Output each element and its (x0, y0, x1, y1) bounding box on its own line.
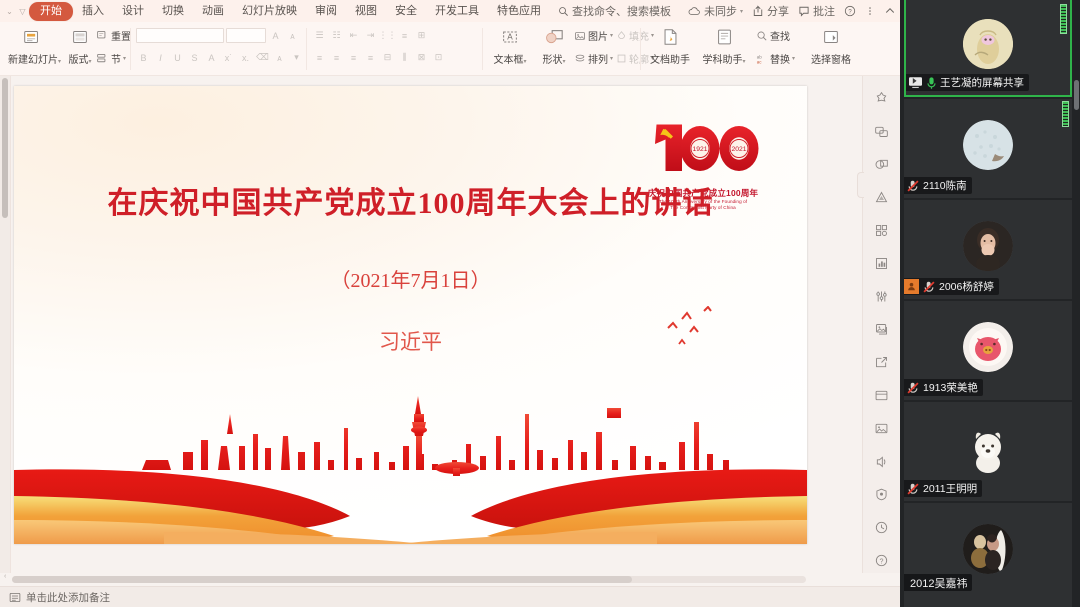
comment-icon (798, 5, 810, 17)
ribbon-separator (482, 28, 483, 70)
svg-text:ab: ab (757, 54, 763, 59)
slide-layout-icon[interactable] (872, 385, 892, 405)
font-color-caret-icon[interactable]: ▾ (289, 50, 304, 65)
arrange-button[interactable]: 排列 ▾ (574, 51, 613, 66)
person-icon (907, 282, 916, 291)
mic-on-green-icon (926, 76, 937, 90)
align-text-icon[interactable]: ⊞ (414, 28, 429, 43)
clear-format-button[interactable]: ⌫ (255, 50, 270, 65)
line-spacing-icon[interactable]: ⋮⋮ (380, 28, 395, 43)
underline-button[interactable]: U (170, 50, 185, 65)
meeting-participants-panel: 王艺凝的屏幕共享 (900, 0, 1080, 607)
text-highlight-button[interactable]: ᴀ (272, 50, 287, 65)
tab-start[interactable]: 开始 (29, 2, 73, 21)
participant-name: 2110陈南 (923, 178, 967, 193)
history-clock-icon[interactable] (872, 517, 892, 537)
ribbon-toolbar: 新建幻灯片▾ 版式▾ (0, 22, 900, 76)
font-selectors: A ᴀ (136, 28, 300, 43)
shapes-button[interactable]: 形状▾ (530, 26, 578, 66)
participant-namebar: 1913荣美艳 (904, 379, 983, 396)
speech-bubbles-icon[interactable] (872, 121, 892, 141)
cloud-sync-label: 未同步 (704, 3, 737, 19)
tab-featured-apps[interactable]: 特色应用 (488, 2, 550, 21)
quick-access-chevron-icon[interactable]: ⌄ (3, 3, 16, 19)
collapse-chevron-icon[interactable] (884, 5, 896, 17)
hscroll-thumb[interactable] (12, 576, 632, 583)
new-slide-button[interactable]: 新建幻灯片▾ (8, 26, 56, 66)
italic-button[interactable]: I (153, 50, 168, 65)
reset-icon (96, 29, 109, 42)
wps-presentation-window: ⌄ ▽ 开始 插入 设计 切换 动画 幻灯片放映 审阅 视图 安全 开发工具 特… (0, 0, 900, 607)
font-name-input[interactable] (136, 28, 224, 43)
avatar (963, 221, 1013, 271)
shapes-icon (530, 26, 578, 48)
city-skyline-decoration (14, 374, 807, 544)
participant-namebar: 2011王明明 (904, 480, 982, 497)
participant-name: 2012吴嘉祎 (906, 575, 967, 591)
textbox-icon: A (486, 26, 534, 48)
indent-decrease-icon[interactable]: ⇤ (346, 28, 361, 43)
new-slide-label: 新建幻灯片 (8, 55, 58, 66)
participant-tile-2[interactable]: 2110陈南 (904, 99, 1072, 198)
superscript-button[interactable]: x˙ (221, 50, 236, 65)
chevron-down-icon[interactable]: ▾ (740, 8, 743, 15)
selection-pane-icon (802, 26, 860, 48)
paragraph-settings-icon[interactable]: ⊡ (431, 50, 446, 65)
envelope-image-icon[interactable] (872, 418, 892, 438)
text-direction-icon[interactable]: ≡ (397, 28, 412, 43)
thumbnail-pane-scrollbar[interactable] (0, 76, 11, 573)
share-label: 分享 (767, 3, 789, 19)
export-share-icon[interactable] (872, 352, 892, 372)
selection-pane-label: 选择窗格 (811, 55, 851, 66)
replace-icon: ab ac (756, 53, 768, 65)
font-style-buttons: B I U S A x˙ x. ⌫ ᴀ ▾ (136, 50, 304, 65)
ribbon-group-slides: 新建幻灯片▾ 版式▾ (6, 22, 128, 76)
subject-assistant-label: 学科助手 (702, 55, 742, 66)
help-circle-icon[interactable]: ? (872, 550, 892, 570)
tab-transition[interactable]: 切换 (153, 2, 193, 21)
ribbon-separator (306, 28, 307, 70)
tab-view[interactable]: 视图 (346, 2, 386, 21)
arrange-label: 排列 (588, 51, 608, 66)
subscript-button[interactable]: x. (238, 50, 253, 65)
svg-text:ac: ac (757, 59, 763, 64)
textbox-button[interactable]: A 文本框▾ (486, 26, 534, 66)
participant-tile-3[interactable]: 2006杨舒婷 (904, 200, 1072, 299)
screen-share-icon (908, 76, 923, 89)
section-icon (96, 52, 109, 65)
section-label: 节 (111, 51, 121, 66)
participant-name: 2006杨舒婷 (939, 279, 994, 294)
tab-review[interactable]: 审阅 (306, 2, 346, 21)
host-badge (904, 279, 919, 294)
scroll-left-tick[interactable]: ‹ (4, 573, 6, 580)
replace-button[interactable]: ab ac 替换 ▾ (756, 51, 795, 66)
paragraph-row-1: ☰ ☷ ⇤ ⇥ ⋮⋮ ≡ ⊞ (312, 28, 429, 43)
svg-text:?: ? (880, 557, 884, 565)
scrollbar-thumb[interactable] (2, 78, 8, 218)
textbox-label: 文本框 (493, 55, 523, 66)
participant-namebar: 2110陈南 (904, 177, 972, 194)
avatar (963, 19, 1013, 69)
share-icon (752, 5, 764, 17)
increase-font-size-icon[interactable]: A (268, 28, 283, 43)
text-shadow-button[interactable]: A (204, 50, 219, 65)
hscroll-track[interactable] (12, 576, 806, 583)
subject-assistant-icon (696, 26, 752, 48)
participant-name: 2011王明明 (923, 481, 977, 496)
participants-scrollbar-thumb[interactable] (1074, 80, 1079, 110)
tab-design[interactable]: 设计 (113, 2, 153, 21)
participant-namebar: 2012吴嘉祎 (904, 574, 972, 591)
participant-tile-5[interactable]: 2011王明明 (904, 402, 1072, 501)
badge-star-icon[interactable] (872, 88, 892, 108)
find-label: 查找 (770, 28, 790, 43)
slide-date[interactable]: （2021年7月1日） (14, 264, 807, 293)
cloud-sync-status[interactable]: 未同步 ▾ (688, 3, 743, 19)
command-search[interactable]: 查找命令、搜索模板 (558, 3, 671, 19)
grid-apps-icon[interactable] (872, 220, 892, 240)
selection-pane-button[interactable]: 选择窗格 (802, 26, 860, 66)
mic-muted-icon (906, 482, 920, 496)
avatar (963, 423, 1013, 473)
tab-slideshow[interactable]: 幻灯片放映 (233, 2, 306, 21)
menu-left: ⌄ ▽ (0, 3, 29, 19)
bold-button[interactable]: B (136, 50, 151, 65)
avatar (963, 322, 1013, 372)
find-icon (756, 30, 768, 42)
shapes-label: 形状 (542, 55, 562, 66)
avatar (963, 120, 1013, 170)
cloud-sync-icon (688, 6, 701, 17)
screen: ⌄ ▽ 开始 插入 设计 切换 动画 幻灯片放映 审阅 视图 安全 开发工具 特… (0, 0, 1080, 607)
notes-bar[interactable]: 单击此处添加备注 (0, 586, 900, 607)
light-texture-avatar (963, 120, 1013, 170)
notes-placeholder: 单击此处添加备注 (26, 590, 110, 605)
ribbon-group-paragraph: ☰ ☷ ⇤ ⇥ ⋮⋮ ≡ ⊞ ≡ ≡ ≡ ≡ ⊟ ⫼ ⊠ ⊡ (310, 22, 480, 76)
ribbon-group-font: A ᴀ B I U S A x˙ x. ⌫ ᴀ ▾ (134, 22, 304, 76)
layout-label: 版式 (68, 55, 88, 66)
picture-label: 图片 (588, 28, 608, 43)
cartoon-character-avatar (963, 19, 1013, 69)
font-size-input[interactable] (226, 28, 266, 43)
horizontal-scrollbar[interactable]: ‹ (0, 573, 900, 586)
justify-icon[interactable]: ≡ (363, 50, 378, 65)
volume-icon[interactable] (872, 451, 892, 471)
reset-button[interactable]: 重置 (96, 28, 131, 43)
birds-decoration (662, 306, 732, 356)
tab-insert[interactable]: 插入 (73, 2, 113, 21)
rail-collapse-handle[interactable] (857, 172, 864, 198)
find-button[interactable]: 查找 (756, 28, 790, 43)
participant-namebar: 2006杨舒婷 (904, 278, 999, 295)
ribbon-separator (640, 28, 641, 70)
share-button[interactable]: 分享 (752, 3, 789, 19)
image-stack-icon[interactable] (872, 319, 892, 339)
subject-assistant-button[interactable]: 学科助手▾ (696, 26, 752, 66)
outline-icon (616, 53, 627, 64)
slide-title[interactable]: 在庆祝中国共产党成立100周年大会上的讲话 (14, 178, 807, 222)
mic-muted-icon (906, 179, 920, 193)
menu-right-actions: 未同步 ▾ 分享 批注 (688, 0, 896, 22)
volume-meter (1062, 101, 1069, 127)
tab-developer-tools[interactable]: 开发工具 (426, 2, 488, 21)
participant-tile-6[interactable]: 2012吴嘉祎 (904, 503, 1072, 607)
section-button[interactable]: 节 ▾ (96, 51, 126, 66)
doc-assistant-button[interactable]: 文档助手 (644, 26, 696, 66)
reset-label: 重置 (111, 28, 131, 43)
numbering-icon[interactable]: ☷ (329, 28, 344, 43)
avatar (963, 524, 1013, 574)
help-circle-icon[interactable]: ? (844, 5, 856, 17)
notes-icon (9, 592, 21, 603)
participant-namebar: 王艺凝的屏幕共享 (906, 74, 1029, 91)
fill-icon (616, 30, 627, 41)
menu-bar: ⌄ ▽ 开始 插入 设计 切换 动画 幻灯片放映 审阅 视图 安全 开发工具 特… (0, 0, 900, 22)
participant-tile-screen-share[interactable]: 王艺凝的屏幕共享 (904, 0, 1072, 97)
editing-stage: 1921 2021 庆祝中国共产党成立100周年 The 100th A (0, 76, 900, 573)
mic-muted-icon (922, 280, 936, 294)
volume-meter (1060, 4, 1067, 34)
shield-icon[interactable] (872, 484, 892, 504)
tab-animation[interactable]: 动画 (193, 2, 233, 21)
comment-button[interactable]: 批注 (798, 3, 835, 19)
adjust-sliders-icon[interactable] (872, 286, 892, 306)
logo-year-left: 1921 (692, 146, 707, 153)
right-tool-rail: ? (862, 76, 900, 573)
command-search-text: 查找命令、搜索模板 (572, 3, 671, 19)
svg-text:A: A (507, 33, 513, 42)
ribbon-tabs: 开始 插入 设计 切换 动画 幻灯片放映 审阅 视图 安全 开发工具 特色应用 (29, 2, 550, 21)
ribbon-group-insert: A 文本框▾ 形状▾ (486, 22, 638, 76)
doc-assistant-icon (644, 26, 696, 48)
decrease-font-size-icon[interactable]: ᴀ (285, 28, 300, 43)
slide-content: 1921 2021 庆祝中国共产党成立100周年 The 100th A (14, 86, 807, 544)
person-photo-avatar (963, 221, 1013, 271)
logo-100-graphic: 1921 2021 (643, 114, 763, 180)
participant-name: 1913荣美艳 (923, 380, 978, 395)
strikethrough-button[interactable]: S (187, 50, 202, 65)
align-right-icon[interactable]: ≡ (346, 50, 361, 65)
align-center-icon[interactable]: ≡ (329, 50, 344, 65)
ribbon-group-tools: 文档助手 学科助手▾ 查找 (644, 22, 894, 76)
svg-text:?: ? (848, 10, 852, 16)
slide-canvas[interactable]: 1921 2021 庆祝中国共产党成立100周年 The 100th A (14, 86, 807, 544)
participant-tile-4[interactable]: 1913荣美艳 (904, 301, 1072, 400)
doc-assistant-label: 文档助手 (650, 55, 690, 66)
columns-icon[interactable]: ⫼ (397, 50, 412, 65)
quick-access-dropdown-icon[interactable]: ▽ (16, 3, 29, 19)
search-icon (558, 6, 569, 17)
ribbon-separator (130, 28, 131, 70)
align-left-icon[interactable]: ≡ (312, 50, 327, 65)
picture-button[interactable]: 图片 ▾ (574, 28, 613, 43)
shapes-icon[interactable] (872, 154, 892, 174)
white-dog-avatar (963, 423, 1013, 473)
mic-muted-icon (906, 381, 920, 395)
smartart-icon[interactable]: ⊠ (414, 50, 429, 65)
two-people-photo-avatar (963, 524, 1013, 574)
logo-year-right: 2021 (731, 146, 746, 153)
indent-increase-icon[interactable]: ⇥ (363, 28, 378, 43)
participant-name: 王艺凝的屏幕共享 (940, 75, 1024, 90)
distribute-icon[interactable]: ⊟ (380, 50, 395, 65)
comment-label: 批注 (813, 3, 835, 19)
bullets-icon[interactable]: ☰ (312, 28, 327, 43)
pig-cartoon-avatar (963, 322, 1013, 372)
picture-icon (574, 30, 586, 42)
replace-label: 替换 (770, 51, 790, 66)
paragraph-row-2: ≡ ≡ ≡ ≡ ⊟ ⫼ ⊠ ⊡ (312, 50, 446, 65)
arrange-icon (574, 53, 586, 65)
tab-security[interactable]: 安全 (386, 2, 426, 21)
gradient-triangle-icon[interactable] (872, 187, 892, 207)
new-slide-icon (8, 26, 56, 48)
more-vertical-icon[interactable] (865, 5, 875, 17)
chart-icon[interactable] (872, 253, 892, 273)
